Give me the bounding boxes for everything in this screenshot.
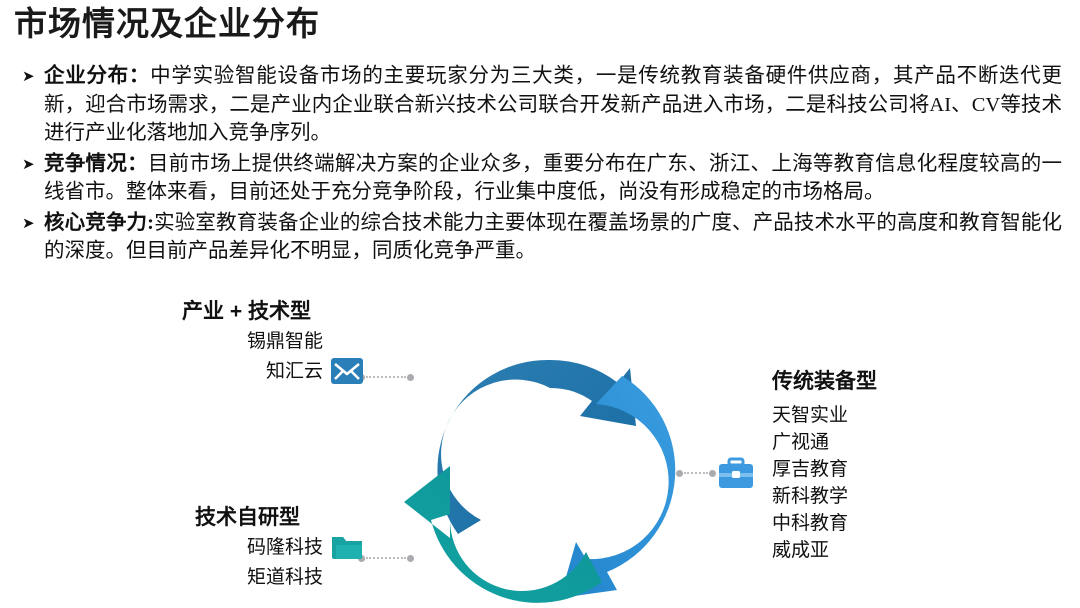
folder-icon [329,532,365,562]
cycle-segment-3[interactable]: 3 [404,466,602,603]
list-item: ➤ 核心竞争力:实验室教育装备企业的综合技术能力主要体现在覆盖场景的广度、产品技… [18,209,1062,266]
connector-dot [709,470,716,477]
bullet-lead-label: 核心竞争力: [44,212,154,234]
bullet-arrow-icon: ➤ [18,150,44,178]
bullet-body: 竞争情况：目前市场上提供终端解决方案的企业众多，重要分布在广东、浙江、上海等教育… [44,150,1062,207]
briefcase-icon [716,454,756,492]
bullet-text-label: 中学实验智能设备市场的主要玩家分为三大类，一是传统教育装备硬件供应商，其产品不断… [44,65,1062,144]
bullet-arrow-icon: ➤ [18,209,44,237]
bullet-body: 核心竞争力:实验室教育装备企业的综合技术能力主要体现在覆盖场景的广度、产品技术水… [44,209,1062,266]
label-group-traditional-equipment: 传统装备型 天智实业 广视通 厚吉教育 新科教学 中科教育 威成亚 [772,368,1022,564]
bullet-text-label: 实验室教育装备企业的综合技术能力主要体现在覆盖场景的广度、产品技术水平的高度和教… [44,212,1062,263]
cycle-diagram: 1 2 3 产业 + 技术型 锡鼎智能 知汇 [0,288,1080,608]
list-item: ➤ 竞争情况：目前市场上提供终端解决方案的企业众多，重要分布在广东、浙江、上海等… [18,150,1062,207]
connector-dot [676,470,683,477]
connector-line [684,472,708,474]
label-row: 知汇云 [150,356,365,386]
company-name: 锡鼎智能 [247,328,329,355]
cycle-segment-2-number: 2 [586,449,607,490]
connector-line [366,376,406,378]
label-row: 锡鼎智能 [150,326,365,356]
bullet-arrow-icon: ➤ [18,62,44,90]
label-group-heading: 产业 + 技术型 [150,298,365,326]
company-name: 新科教学 [772,483,1022,510]
company-name: 矩道科技 [247,564,329,591]
label-row: 矩道科技 [150,562,365,592]
bullet-body: 企业分布：中学实验智能设备市场的主要玩家分为三大类，一是传统教育装备硬件供应商，… [44,62,1062,148]
company-name: 厚吉教育 [772,456,1022,483]
bullet-text-label: 目前市场上提供终端解决方案的企业众多，重要分布在广东、浙江、上海等教育信息化程度… [44,153,1062,204]
connector-right [676,469,716,477]
cycle-segment-3-number: 3 [484,523,505,564]
connector-line [366,557,406,559]
cycle-arrows-graphic: 1 2 3 [390,330,710,608]
connector-dot [407,374,414,381]
company-name: 广视通 [772,429,1022,456]
label-group-self-research: 技术自研型 码隆科技 矩道科技 [150,504,365,592]
icon-spacer [329,562,365,592]
bullet-lead-label: 企业分布： [44,65,150,87]
company-name: 知汇云 [266,358,329,385]
label-group-heading: 技术自研型 [150,504,365,532]
icon-spacer [329,326,365,356]
label-row: 码隆科技 [150,532,365,562]
company-name: 码隆科技 [247,534,329,561]
company-name: 天智实业 [772,402,1022,429]
cycle-segment-1-number: 1 [484,384,505,425]
cycle-segment-1[interactable]: 1 [437,360,636,534]
connector-top-left [358,373,414,381]
connector-bottom-left [358,554,414,562]
company-name: 威成亚 [772,537,1022,564]
company-name: 中科教育 [772,510,1022,537]
label-group-industry-tech: 产业 + 技术型 锡鼎智能 知汇云 [150,298,365,386]
page-title: 市场情况及企业分布 [14,4,320,46]
connector-dot [407,555,414,562]
list-item: ➤ 企业分布：中学实验智能设备市场的主要玩家分为三大类，一是传统教育装备硬件供应… [18,62,1062,148]
bullet-list: ➤ 企业分布：中学实验智能设备市场的主要玩家分为三大类，一是传统教育装备硬件供应… [18,62,1062,268]
bullet-lead-label: 竞争情况： [44,153,148,175]
label-group-heading: 传统装备型 [772,368,1022,396]
mail-icon [329,356,365,386]
